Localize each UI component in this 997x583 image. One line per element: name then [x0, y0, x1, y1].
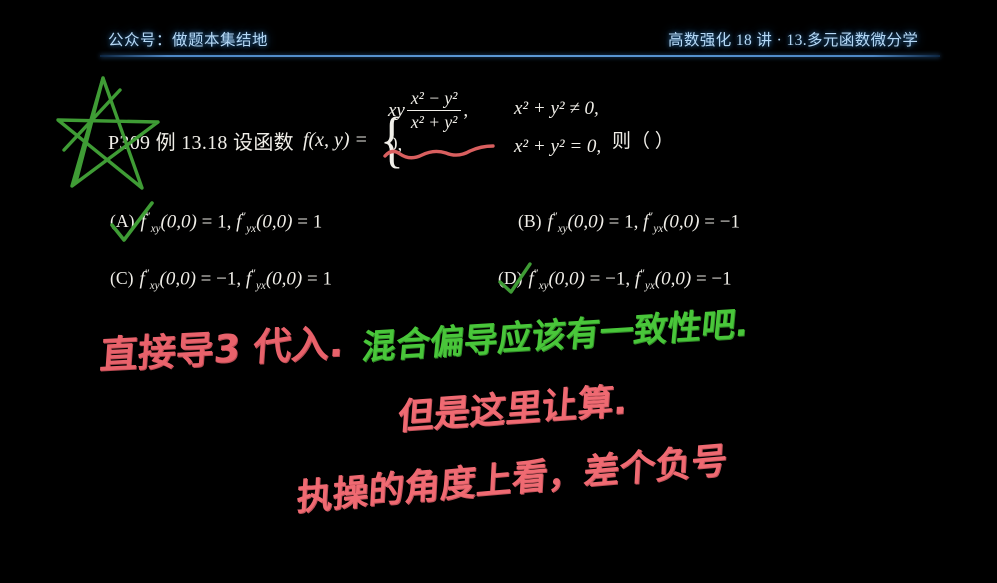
- option-d-sup1: ″: [534, 267, 539, 280]
- header-left-text: 公众号：做题本集结地: [108, 28, 268, 50]
- equals-sign: =: [356, 129, 367, 152]
- note-green-1-text: 混合偏导应该有一致性吧.: [360, 304, 750, 368]
- option-b-eq1: =: [604, 211, 624, 232]
- option-a[interactable]: (A)f″xy(0,0) = 1, f″yx(0,0) = 1: [110, 210, 322, 235]
- problem-label: P309 例 13.18 设函数: [108, 126, 294, 155]
- option-a-sub2: yx: [246, 223, 256, 235]
- option-d-val1: −1: [605, 268, 625, 289]
- slide-header: 公众号：做题本集结地 高数强化 18 讲 · 13.多元函数微分学: [0, 28, 997, 62]
- option-c-eq1: =: [196, 268, 216, 289]
- option-d-tag: (D): [498, 268, 523, 288]
- option-c-sup1: ″: [145, 267, 150, 280]
- option-d-sub2: yx: [645, 280, 655, 292]
- option-d-sup2: ″: [640, 267, 645, 280]
- option-b-pt1: (0,0): [568, 211, 604, 232]
- option-c-tag: (C): [110, 268, 134, 288]
- case-1-fraction: x² − y² x² + y²: [407, 88, 462, 133]
- note-red-1-text: 直接导3 代入.: [98, 321, 345, 378]
- option-d-comma: ,: [625, 268, 635, 289]
- option-d[interactable]: (D)f″xy(0,0) = −1, f″yx(0,0) = −1: [498, 267, 732, 292]
- option-b-sup2: ″: [648, 210, 653, 223]
- option-a-pt1: (0,0): [160, 211, 196, 232]
- case-1-prefix: xy: [388, 100, 405, 122]
- note-pink-2: 执操的角度上看，差个负号: [295, 431, 728, 521]
- option-c-val2: 1: [322, 268, 332, 289]
- option-d-eq1: =: [585, 268, 605, 289]
- option-c-val1: −1: [216, 268, 236, 289]
- option-a-val1: 1: [217, 211, 227, 232]
- option-c[interactable]: (C)f″xy(0,0) = −1, f″yx(0,0) = 1: [110, 267, 332, 292]
- option-a-sup1: ″: [146, 210, 151, 223]
- case-1-suffix: ,: [463, 100, 468, 122]
- option-c-sub2: yx: [256, 280, 266, 292]
- option-b-sup1: ″: [553, 210, 558, 223]
- option-b-pt2: (0,0): [663, 211, 699, 232]
- option-a-sup2: ″: [241, 210, 246, 223]
- option-b-eq2: =: [700, 211, 720, 232]
- option-a-eq1: =: [197, 211, 217, 232]
- problem-statement: P309 例 13.18 设函数 f(x, y) = {: [108, 118, 411, 163]
- option-b[interactable]: (B)f″xy(0,0) = 1, f″yx(0,0) = −1: [518, 210, 740, 235]
- case-1-denominator: x² + y²: [407, 111, 462, 133]
- option-b-val1: 1: [624, 211, 634, 232]
- option-c-pt1: (0,0): [160, 268, 196, 289]
- case-1-condition: x² + y² ≠ 0,: [514, 98, 599, 120]
- option-a-eq2: =: [292, 211, 312, 232]
- note-pink-1: 但是这里让算.: [396, 372, 629, 440]
- option-d-val2: −1: [711, 268, 731, 289]
- function-args: (x, y): [309, 129, 350, 151]
- option-d-pt2: (0,0): [655, 268, 691, 289]
- option-a-pt2: (0,0): [256, 211, 292, 232]
- case-1-expression: xy x² − y² x² + y² ,: [388, 88, 468, 133]
- note-pink-2-text: 执操的角度上看，差个负号: [296, 440, 729, 519]
- case-2-condition: x² + y² = 0,: [514, 136, 601, 158]
- option-b-tag: (B): [518, 211, 542, 231]
- header-right-text: 高数强化 18 讲 · 13.多元函数微分学: [668, 28, 918, 50]
- option-c-sub1: xy: [150, 280, 160, 292]
- option-b-comma: ,: [634, 211, 644, 232]
- function-notation: f(x, y): [303, 129, 350, 152]
- case-2-expression: 0,: [388, 134, 402, 156]
- option-b-sub2: yx: [653, 223, 663, 235]
- option-b-val2: −1: [720, 211, 740, 232]
- note-pink-1-text: 但是这里让算.: [397, 381, 629, 438]
- slide-canvas: 公众号：做题本集结地 高数强化 18 讲 · 13.多元函数微分学 P309 例…: [0, 0, 997, 583]
- then-prompt: 则（ ）: [612, 126, 674, 153]
- option-d-pt1: (0,0): [548, 268, 584, 289]
- note-red-1: 直接导3 代入.: [98, 311, 346, 379]
- case-1-numerator: x² − y²: [407, 88, 462, 110]
- case-2-prefix: 0,: [388, 134, 402, 156]
- option-a-comma: ,: [227, 211, 237, 232]
- header-divider: [100, 55, 940, 57]
- option-d-eq2: =: [691, 268, 711, 289]
- option-b-sub1: xy: [558, 223, 568, 235]
- option-c-eq2: =: [302, 268, 322, 289]
- option-c-comma: ,: [236, 268, 246, 289]
- option-a-val2: 1: [313, 211, 323, 232]
- option-a-tag: (A): [110, 211, 135, 231]
- note-green-1: 混合偏导应该有一致性吧.: [360, 296, 751, 369]
- option-c-sup2: ″: [251, 267, 256, 280]
- option-c-pt2: (0,0): [266, 268, 302, 289]
